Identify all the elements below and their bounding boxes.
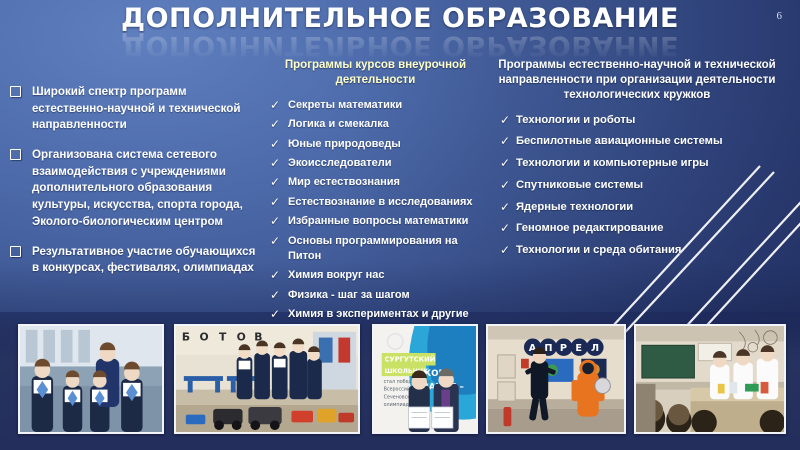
check-mark-icon: ✓ (270, 213, 280, 230)
list-item: ✓Геномное редактирование (496, 221, 796, 237)
list-item-label: Экоисследователи (288, 157, 392, 169)
list-item: Результативное участие обучающихся в кон… (6, 244, 262, 277)
slide-root: ДОПОЛНИТЕЛЬНОЕ ОБРАЗОВАНИЕ ДОПОЛНИТЕЛЬНО… (0, 0, 800, 450)
photo-students-with-teacher-in-gym (18, 324, 164, 434)
check-mark-icon: ✓ (270, 155, 280, 172)
right-column: Программы естественно-научной и техничес… (478, 58, 796, 265)
check-mark-icon: ✓ (270, 267, 280, 284)
middle-column-heading: Программы курсов внеурочной деятельности (268, 58, 483, 88)
list-item-label: Широкий спектр программ естественно-науч… (32, 85, 241, 131)
svg-text:О: О (237, 331, 246, 344)
list-item-label: Секреты математики (288, 99, 402, 111)
right-column-heading: Программы естественно-научной и техничес… (478, 58, 796, 103)
photo-image: А П Р Е Л (488, 326, 624, 432)
middle-column: Программы курсов внеурочной деятельности… (268, 58, 483, 327)
list-item: ✓Физика - шаг за шагом (268, 288, 483, 303)
list-item: ✓Секреты математики (268, 98, 483, 113)
list-item-label: Мир естествознания (288, 176, 400, 188)
check-mark-icon: ✓ (270, 136, 280, 153)
right-column-list: ✓Технологии и роботы ✓Беспилотные авиаци… (478, 113, 796, 259)
square-bullet-icon (10, 246, 21, 257)
list-item-label: Беспилотные авиационные системы (516, 135, 723, 147)
list-item-label: Юные природоведы (288, 138, 401, 150)
page-number: 6 (777, 10, 783, 22)
left-column: Широкий спектр программ естественно-науч… (6, 84, 262, 290)
check-mark-icon: ✓ (270, 116, 280, 133)
check-mark-icon: ✓ (500, 242, 510, 259)
list-item: ✓Химия вокруг нас (268, 268, 483, 283)
list-item: ✓Технологии и среда обитания (496, 243, 796, 259)
square-bullet-icon (10, 149, 21, 160)
check-mark-icon: ✓ (270, 287, 280, 304)
list-item-label: Спутниковые системы (516, 179, 643, 191)
check-mark-icon: ✓ (500, 220, 510, 237)
photo-chemistry-lab-demonstration (634, 324, 786, 434)
check-mark-icon: ✓ (270, 194, 280, 211)
list-item: ✓Химия в экспериментах и другие (268, 307, 483, 322)
check-mark-icon: ✓ (270, 233, 280, 250)
list-item: ✓Юные природоведы (268, 137, 483, 152)
list-item: ✓Мир естествознания (268, 175, 483, 190)
list-item: Организована система сетевого взаимодейс… (6, 147, 262, 230)
list-item: ✓Логика и смекалка (268, 117, 483, 132)
list-item: ✓Избранные вопросы математики (268, 214, 483, 229)
list-item-label: Логика и смекалка (288, 118, 389, 130)
svg-text:СУРГУТСКИЙ: СУРГУТСКИЙ (385, 355, 436, 364)
list-item: ✓Беспилотные авиационные системы (496, 134, 796, 150)
list-item-label: Технологии и среда обитания (516, 244, 681, 256)
list-item: ✓Технологии и компьютерные игры (496, 156, 796, 172)
list-item-label: Организована система сетевого взаимодейс… (32, 148, 243, 228)
svg-text:Р: Р (560, 343, 567, 354)
photo-image (636, 326, 784, 432)
photo-robotics-class-with-robots: БОТОВ (174, 324, 360, 434)
photo-strip: БОТОВ (0, 324, 800, 436)
list-item-label: Естествознание в исследованиях (288, 196, 472, 208)
list-item: ✓Основы программирования на Питон (268, 234, 483, 265)
list-item: ✓Ядерные технологии (496, 200, 796, 216)
photo-image (20, 326, 162, 432)
list-item: ✓Спутниковые системы (496, 178, 796, 194)
list-item: ✓Технологии и роботы (496, 113, 796, 129)
list-item-label: Физика - шаг за шагом (288, 289, 410, 301)
list-item-label: Избранные вопросы математики (288, 215, 468, 227)
check-mark-icon: ✓ (500, 133, 510, 150)
list-item-label: Результативное участие обучающихся в кон… (32, 245, 255, 275)
svg-text:Е: Е (575, 343, 582, 354)
check-mark-icon: ✓ (270, 97, 280, 114)
list-item-label: Основы программирования на Питон (288, 235, 458, 262)
list-item-label: Ядерные технологии (516, 201, 633, 213)
check-mark-icon: ✓ (500, 155, 510, 172)
photo-cosmonautics-day-jump: А П Р Е Л (486, 324, 626, 434)
check-mark-icon: ✓ (500, 112, 510, 129)
photo-image: СУРГУТСКИЙ ШКОЛЬНИК стал победителем Все… (374, 326, 476, 432)
square-bullet-icon (10, 86, 21, 97)
list-item-label: Технологии и компьютерные игры (516, 157, 709, 169)
svg-text:Л: Л (591, 343, 599, 354)
list-item-label: Химия вокруг нас (288, 269, 385, 281)
check-mark-icon: ✓ (500, 177, 510, 194)
svg-text:О: О (199, 331, 208, 344)
check-mark-icon: ✓ (500, 199, 510, 216)
list-item: Широкий спектр программ естественно-науч… (6, 84, 262, 134)
list-item: ✓Естествознание в исследованиях (268, 195, 483, 210)
photo-image: БОТОВ (176, 326, 358, 432)
svg-text:Б: Б (182, 331, 190, 344)
middle-column-list: ✓Секреты математики ✓Логика и смекалка ✓… (268, 98, 483, 323)
list-item-label: Технологии и роботы (516, 114, 635, 126)
check-mark-icon: ✓ (270, 174, 280, 191)
list-item-label: Геномное редактирование (516, 222, 663, 234)
list-item: ✓Экоисследователи (268, 156, 483, 171)
left-column-list: Широкий спектр программ естественно-науч… (6, 84, 262, 277)
list-item-label: Химия в экспериментах и другие (288, 308, 469, 320)
photo-award-ceremony-diplomas: СУРГУТСКИЙ ШКОЛЬНИК стал победителем Все… (372, 324, 478, 434)
check-mark-icon: ✓ (270, 306, 280, 323)
svg-text:Т: Т (219, 331, 227, 344)
